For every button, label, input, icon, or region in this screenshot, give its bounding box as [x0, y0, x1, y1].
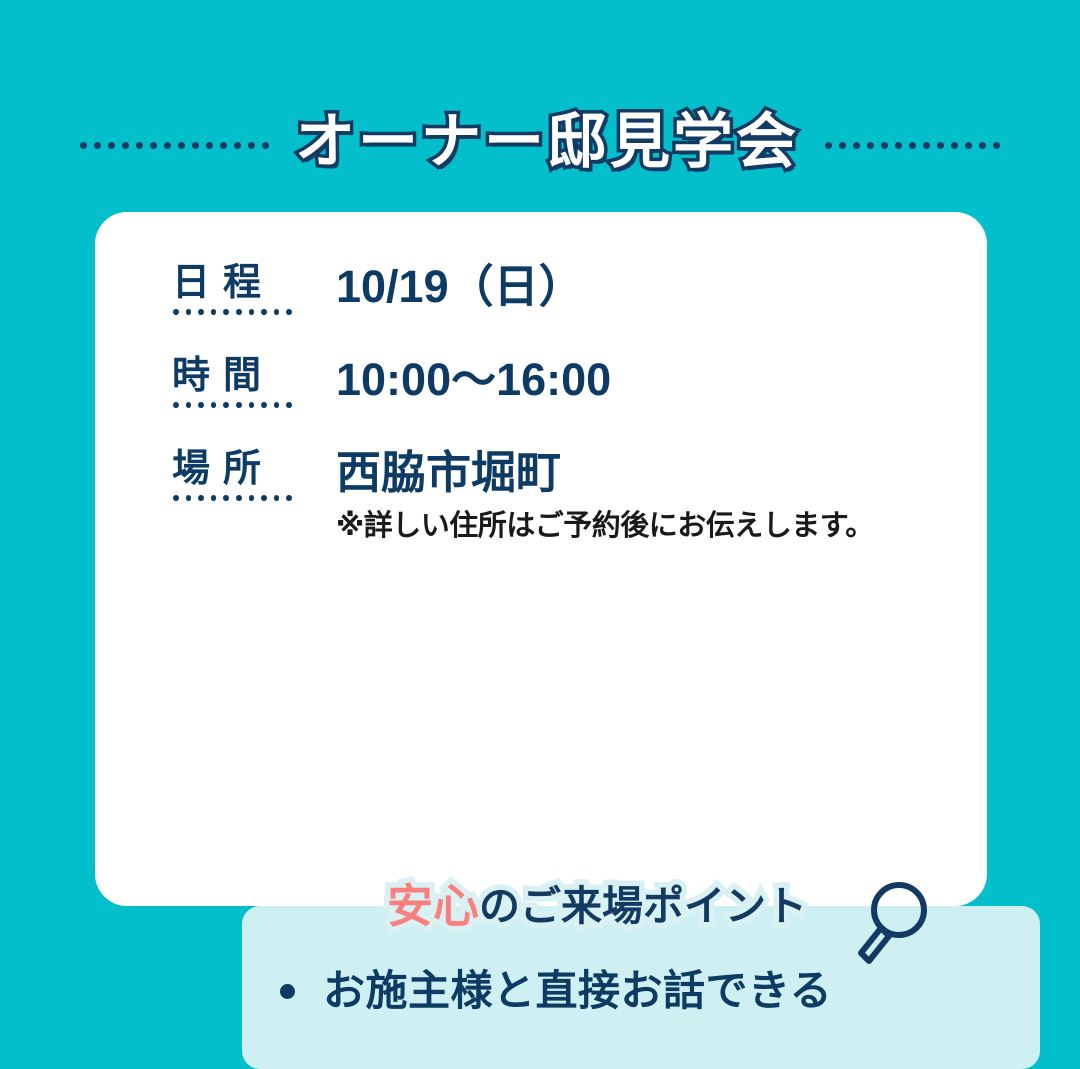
detail-value-date: 10/19（日）: [336, 264, 584, 309]
magnifier-icon: [852, 875, 928, 971]
detail-label-time-text: 時間: [172, 357, 292, 397]
detail-label-time: 時間: [172, 357, 292, 412]
detail-row-date: 日程 10/19（日）: [172, 264, 972, 319]
list-item: お施主様と直接お話できる: [280, 970, 832, 1012]
page-title: オーナー邸見学会: [295, 112, 799, 172]
dotted-rule-right: [825, 140, 1000, 150]
detail-value-time: 10:00〜16:00: [336, 357, 611, 402]
detail-label-date-text: 日程: [172, 264, 292, 304]
page-header: オーナー邸見学会: [0, 96, 1080, 188]
detail-row-place: 場所 西脇市堀町 ※詳しい住所はご予約後にお伝えします。: [172, 450, 972, 543]
label-underline-dots-date: [173, 309, 292, 315]
detail-label-place-text: 場所: [172, 450, 292, 490]
event-info-card: 日程 10/19（日） 時間 10:00〜16:00 場所: [95, 212, 987, 906]
detail-label-date: 日程: [172, 264, 292, 319]
detail-row-time: 時間 10:00〜16:00: [172, 357, 972, 412]
visit-point-text: お施主様と直接お話できる: [323, 970, 832, 1012]
label-underline-dots-place: [173, 495, 292, 501]
dotted-rule-left: [80, 140, 269, 150]
detail-value-place: 西脇市堀町: [336, 450, 874, 495]
label-underline-dots-time: [173, 402, 292, 408]
event-detail-list: 日程 10/19（日） 時間 10:00〜16:00 場所: [172, 264, 972, 543]
detail-note-place: ※詳しい住所はご予約後にお伝えします。: [336, 511, 874, 543]
visit-points-heading-accent: 安心: [387, 883, 479, 929]
detail-label-place: 場所: [172, 450, 292, 505]
detail-value-place-group: 西脇市堀町 ※詳しい住所はご予約後にお伝えします。: [336, 450, 874, 543]
bullet-dot-icon: [280, 984, 295, 999]
visit-points-heading-rest: のご来場ポイント: [479, 886, 807, 927]
